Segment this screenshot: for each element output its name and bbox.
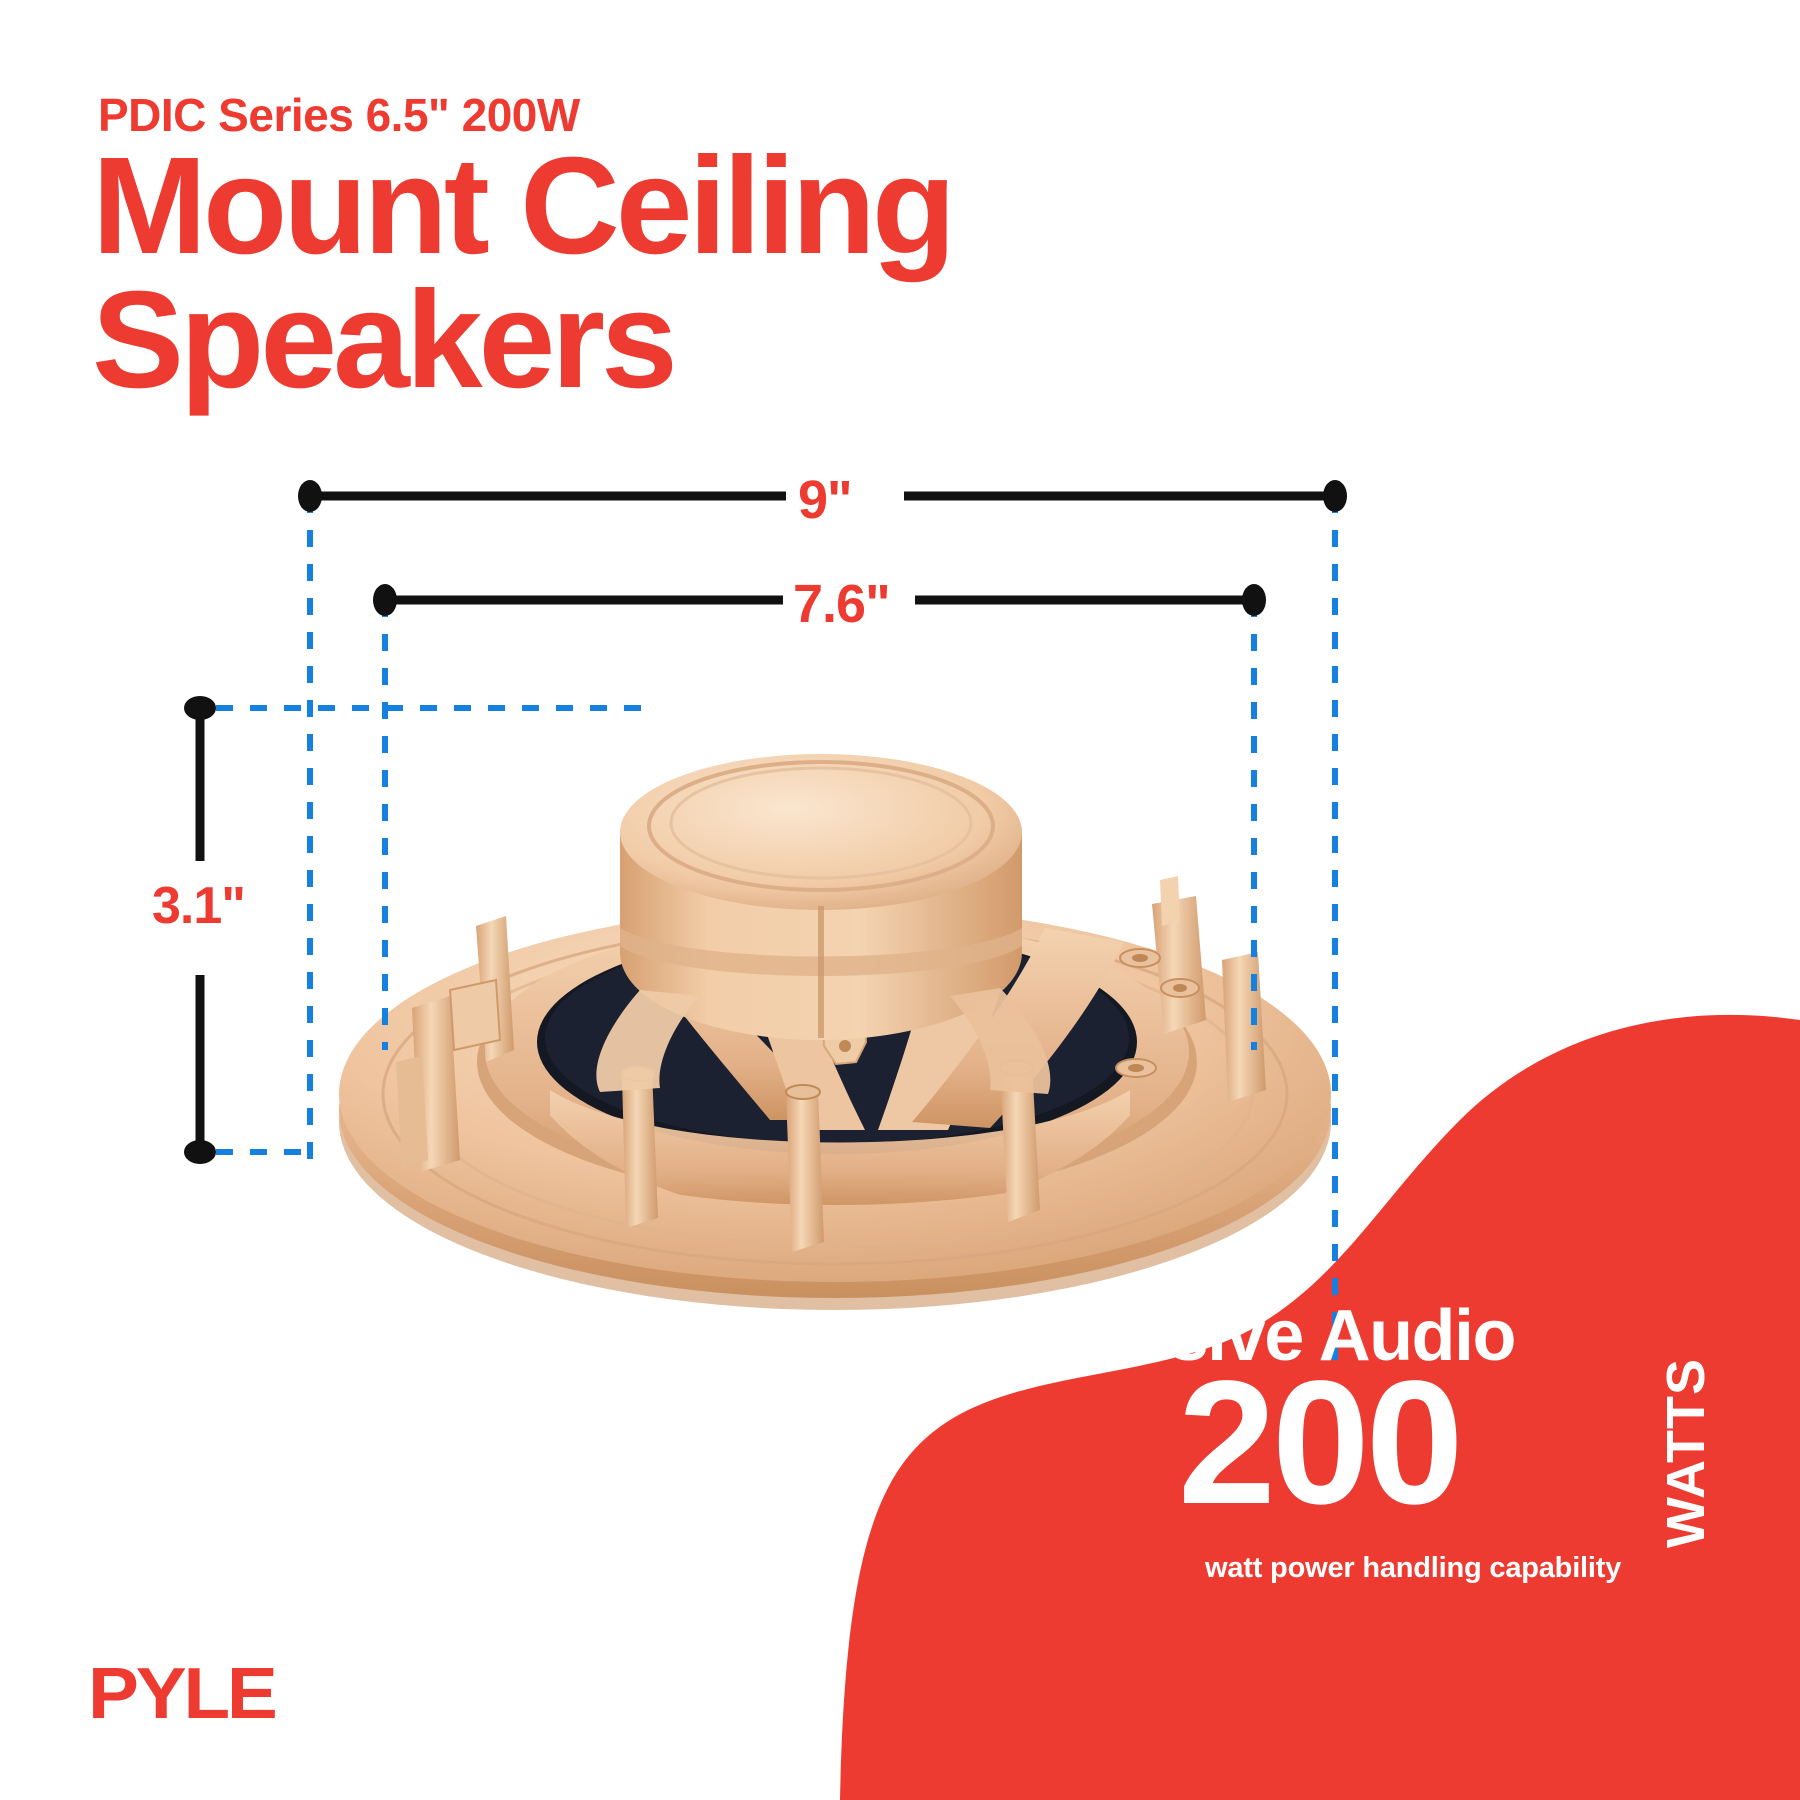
dimension-label-9in: 9" bbox=[798, 469, 852, 531]
promo-wattage-unit: WATTS bbox=[1655, 1358, 1717, 1548]
product-image-ceiling-speaker bbox=[300, 690, 1380, 1310]
page-title-line-2: Speakers bbox=[92, 274, 952, 408]
promo-wattage-number: 200 bbox=[1178, 1355, 1460, 1531]
dimension-label-3-1in: 3.1" bbox=[152, 876, 245, 936]
infographic-canvas: PDIC Series 6.5" 200W Mount Ceiling Spea… bbox=[0, 0, 1800, 1800]
pyle-logo-text: PYLE bbox=[88, 1658, 275, 1732]
page-title: Mount Ceiling Speakers bbox=[92, 140, 952, 408]
promo-subtitle: watt power handling capability bbox=[1205, 1552, 1621, 1585]
dimension-label-7-6in: 7.6" bbox=[793, 573, 890, 635]
pyle-logo: PYLE bbox=[88, 1658, 308, 1732]
page-title-line-1: Mount Ceiling bbox=[92, 129, 952, 283]
